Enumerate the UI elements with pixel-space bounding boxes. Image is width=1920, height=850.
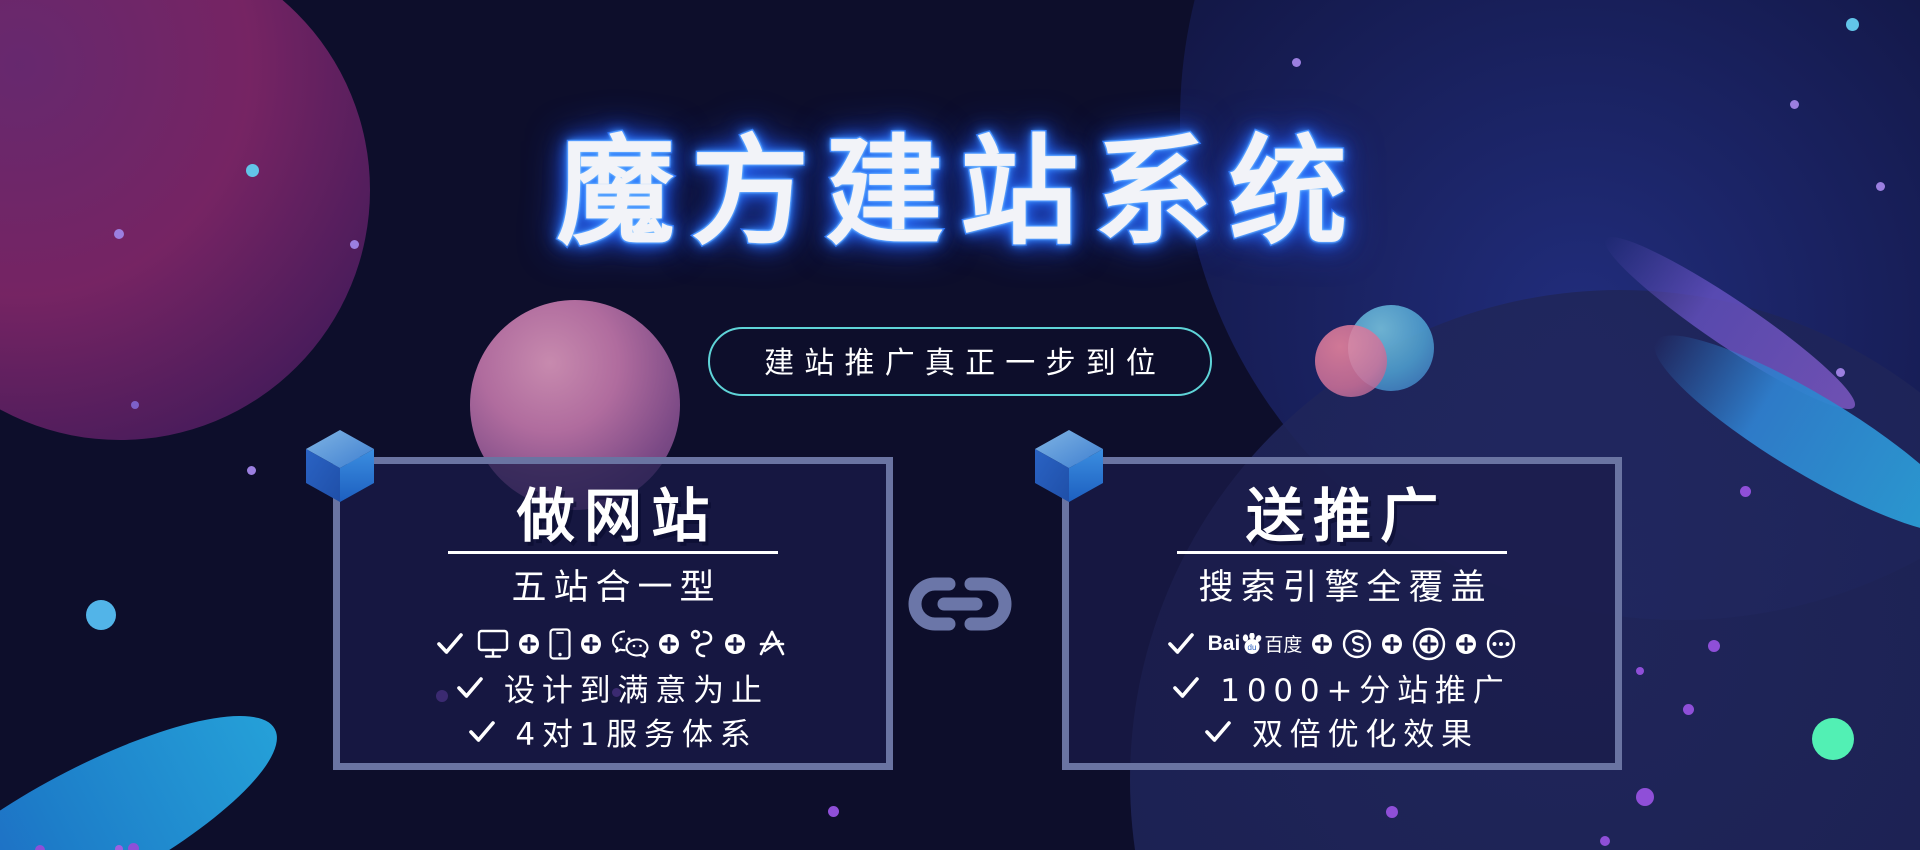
plus-icon bbox=[658, 633, 680, 655]
360-search-logo-icon bbox=[1412, 627, 1446, 661]
baidu-logo-icon: Bai du 百度 bbox=[1208, 630, 1303, 657]
feature-row-text: 设计到满意为止 bbox=[457, 668, 769, 708]
card-subheading: 五站合一型 bbox=[504, 559, 721, 610]
baidu-paw-icon: du bbox=[1241, 633, 1263, 655]
wechat-icon bbox=[611, 629, 649, 659]
feature-row-text: 4对1服务体系 bbox=[469, 712, 758, 752]
feature-row-text: 双倍优化效果 bbox=[1205, 712, 1479, 752]
check-icon bbox=[1205, 719, 1231, 745]
heading-underline bbox=[448, 551, 778, 554]
mobile-phone-icon bbox=[549, 628, 571, 660]
page-title: 魔方建站系统 bbox=[0, 96, 1920, 267]
search-engine-icon-row: Bai du 百度 bbox=[1208, 627, 1517, 661]
check-icon bbox=[457, 675, 483, 701]
desktop-monitor-icon bbox=[477, 629, 509, 659]
feature-label: 4对1服务体系 bbox=[509, 709, 758, 754]
check-icon bbox=[1168, 631, 1194, 657]
feature-label: 1000+分站推广 bbox=[1213, 665, 1510, 710]
baidu-cjk: 百度 bbox=[1264, 630, 1302, 657]
feature-label: 设计到满意为止 bbox=[497, 665, 769, 710]
card-heading: 送推广 bbox=[1236, 486, 1447, 547]
check-icon bbox=[469, 719, 495, 745]
card-heading: 做网站 bbox=[507, 486, 718, 547]
heading-underline bbox=[1177, 551, 1507, 554]
chain-link-icon bbox=[905, 572, 1015, 636]
plus-icon bbox=[580, 633, 602, 655]
feature-label: 双倍优化效果 bbox=[1245, 709, 1479, 754]
feature-row-icons: Bai du 百度 bbox=[1168, 624, 1517, 664]
platform-icon-row bbox=[477, 628, 789, 660]
feature-row-icons bbox=[437, 624, 789, 664]
card-subheading: 搜索引擎全覆盖 bbox=[1191, 559, 1492, 610]
plus-icon bbox=[1381, 633, 1403, 655]
card-build-website[interactable]: 做网站 五站合一型 bbox=[333, 457, 893, 770]
promo-banner: 魔方建站系统 建站推广真正一步到位 bbox=[0, 0, 1920, 850]
subtitle-pill: 建站推广真正一步到位 bbox=[708, 327, 1212, 396]
plus-icon bbox=[1455, 633, 1477, 655]
card-free-promotion[interactable]: 送推广 搜索引擎全覆盖 Bai bbox=[1062, 457, 1622, 770]
wechat-miniprogram-icon bbox=[689, 628, 715, 660]
plus-icon bbox=[518, 633, 540, 655]
sogou-logo-icon bbox=[1342, 629, 1372, 659]
check-icon bbox=[437, 631, 463, 657]
subtitle-container: 建站推广真正一步到位 bbox=[0, 327, 1920, 396]
baidu-latin: Bai bbox=[1208, 632, 1241, 656]
ellipsis-more-icon bbox=[1486, 629, 1516, 659]
plus-icon bbox=[724, 633, 746, 655]
app-store-icon bbox=[755, 629, 789, 659]
feature-row-text: 1000+分站推广 bbox=[1173, 668, 1510, 708]
plus-icon bbox=[1311, 633, 1333, 655]
svg-text:du: du bbox=[1248, 643, 1257, 652]
check-icon bbox=[1173, 675, 1199, 701]
